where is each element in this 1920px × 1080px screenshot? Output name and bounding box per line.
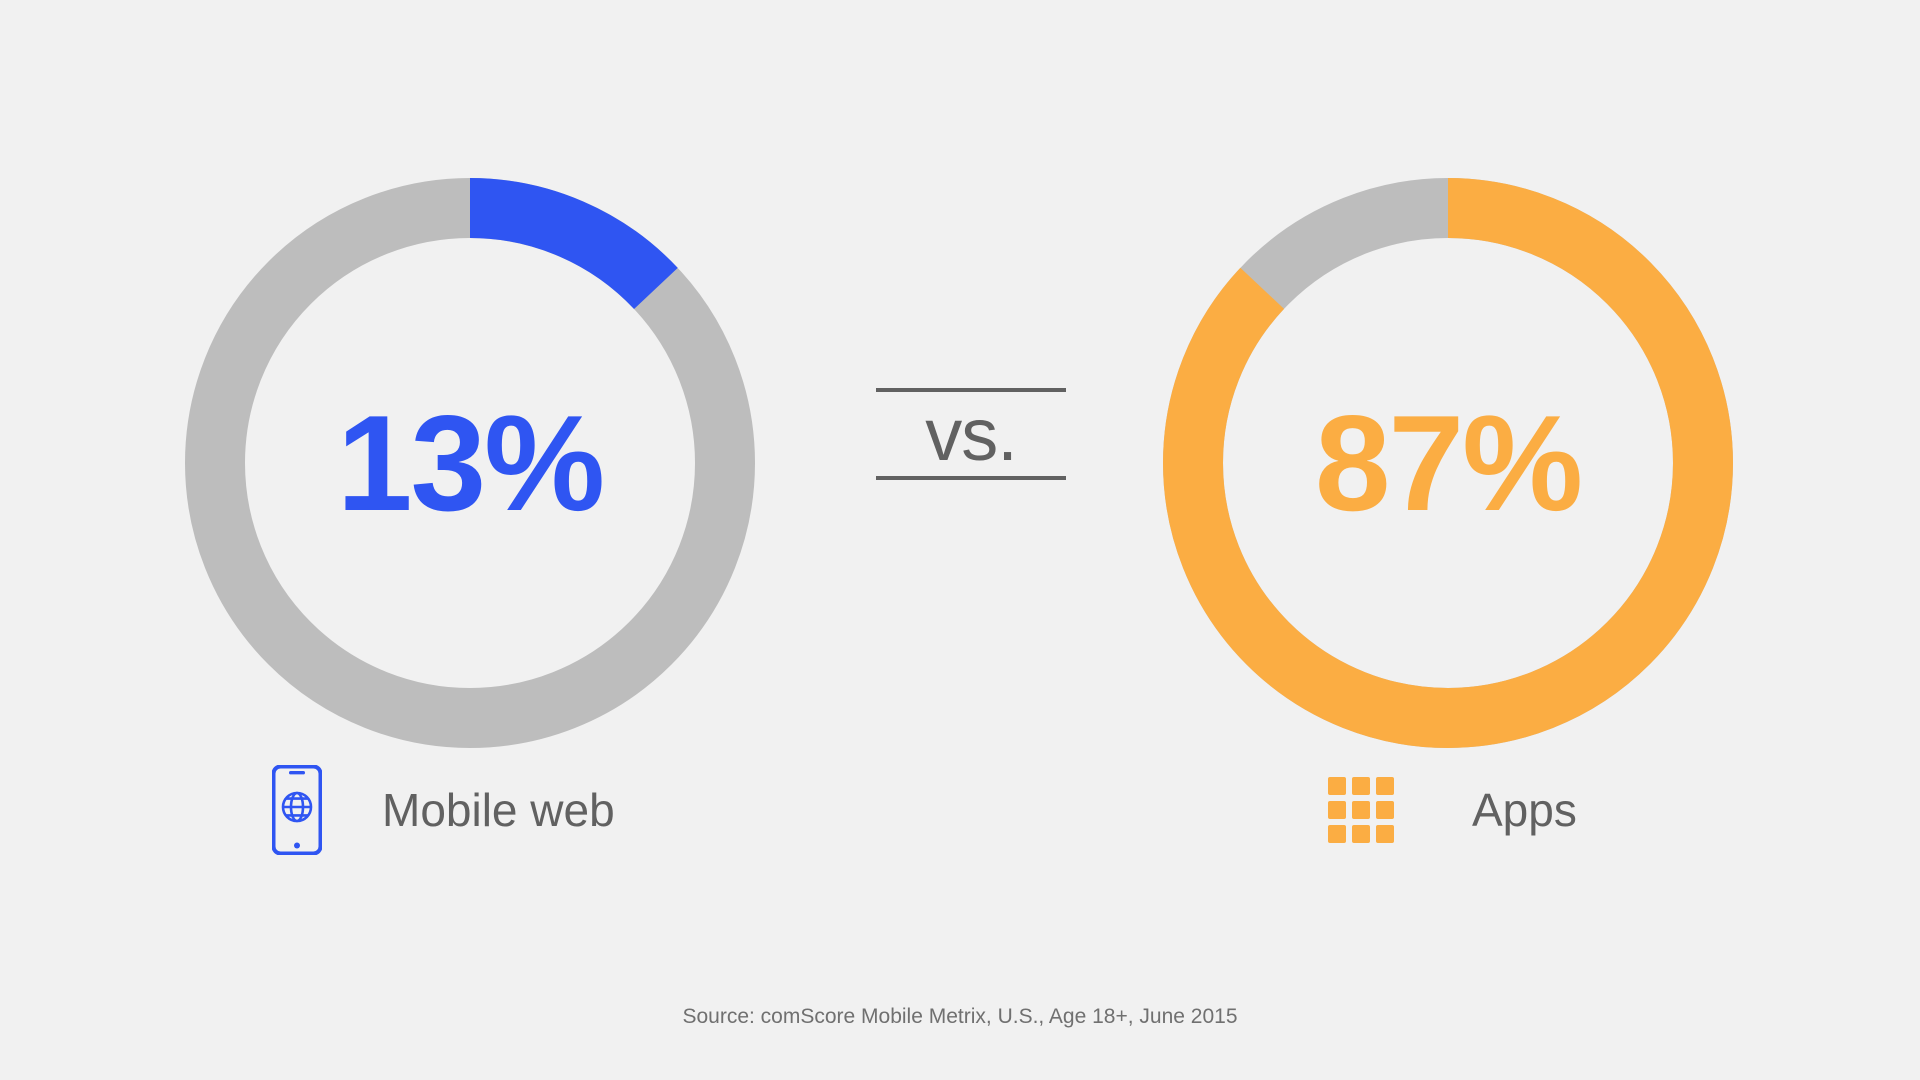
legend-label-mobile-web: Mobile web [382, 783, 615, 837]
mobile-phone-globe-icon [272, 765, 322, 855]
legend-mobile-web: Mobile web [272, 760, 615, 860]
versus-rule-bottom [876, 476, 1066, 480]
donut-chart-apps [1163, 178, 1733, 748]
legend-label-apps: Apps [1472, 783, 1577, 837]
apps-grid-icon [1328, 777, 1394, 843]
donut-panel-mobile-web: 13% [185, 178, 755, 748]
donut-chart-mobile-web [185, 178, 755, 748]
infographic-canvas: 13% vs. 87% [0, 0, 1920, 1080]
legend-apps: Apps [1328, 760, 1577, 860]
source-note: Source: comScore Mobile Metrix, U.S., Ag… [0, 1005, 1920, 1029]
versus-label: vs. [876, 392, 1066, 476]
donut-panel-apps: 87% [1163, 178, 1733, 748]
versus-separator: vs. [876, 388, 1066, 480]
